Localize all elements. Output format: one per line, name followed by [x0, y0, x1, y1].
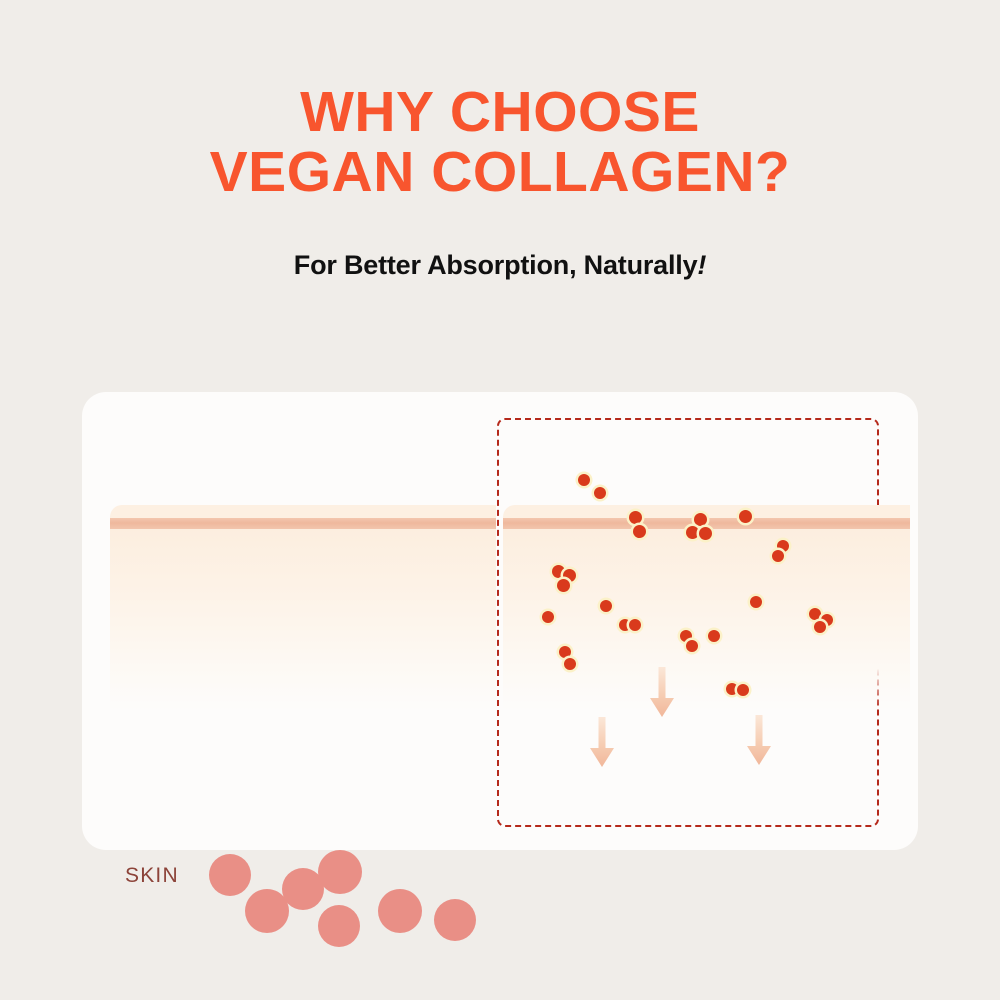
plussome-molecule	[542, 611, 554, 623]
skin-cross-section-left	[110, 505, 496, 717]
absorption-arrow-down-icon	[647, 667, 677, 719]
plussome-molecule	[750, 596, 762, 608]
skin-surface-layer	[110, 505, 496, 519]
infographic-canvas: WHY CHOOSE VEGAN COLLAGEN? For Better Ab…	[0, 0, 1000, 1000]
subtitle-emphasis: !	[697, 250, 706, 280]
plussome-molecule	[737, 684, 749, 696]
plussome-molecule	[564, 658, 576, 670]
subtitle-text: For Better Absorption, Naturally	[294, 250, 698, 280]
animal-collagen-molecule	[378, 889, 422, 933]
plussome-molecule	[578, 474, 590, 486]
skin-label: SKIN	[125, 864, 179, 888]
plussome-molecule	[594, 487, 606, 499]
page-subtitle: For Better Absorption, Naturally!	[0, 250, 1000, 281]
plussome-molecule	[694, 513, 707, 526]
plussome-molecule	[699, 527, 712, 540]
animal-collagen-molecule	[209, 854, 251, 896]
plussome-molecule	[633, 525, 646, 538]
epidermis-layer	[110, 518, 496, 529]
plussome-molecule	[772, 550, 784, 562]
absorption-arrow-down-icon	[744, 715, 774, 767]
plussome-molecule	[686, 526, 699, 539]
plussome-molecule	[629, 511, 642, 524]
panel-plant-based: Plussome™	[486, 392, 918, 850]
panel-animal-based: SKIN ANIMAL - BASED COLLAGEN	[82, 392, 486, 850]
plussome-molecule	[629, 619, 641, 631]
page-title: WHY CHOOSE VEGAN COLLAGEN?	[0, 82, 1000, 203]
plussome-molecule	[708, 630, 720, 642]
plussome-molecule	[686, 640, 698, 652]
plussome-molecule	[809, 608, 821, 620]
headline-line-2: VEGAN COLLAGEN?	[0, 142, 1000, 202]
plussome-molecule	[739, 510, 752, 523]
headline-line-1: WHY CHOOSE	[0, 82, 1000, 142]
plussome-molecule	[814, 621, 826, 633]
animal-collagen-molecule	[318, 905, 360, 947]
plussome-molecule	[557, 579, 570, 592]
dermis-layer	[110, 529, 496, 711]
comparison-card: SKIN ANIMAL - BASED COLLAGEN	[82, 392, 918, 850]
plussome-molecule	[600, 600, 612, 612]
dermis-layer	[503, 529, 910, 711]
absorption-arrow-down-icon	[587, 717, 617, 769]
animal-collagen-molecule	[318, 850, 362, 894]
animal-collagen-molecule	[434, 899, 476, 941]
plussome-molecule	[559, 646, 571, 658]
